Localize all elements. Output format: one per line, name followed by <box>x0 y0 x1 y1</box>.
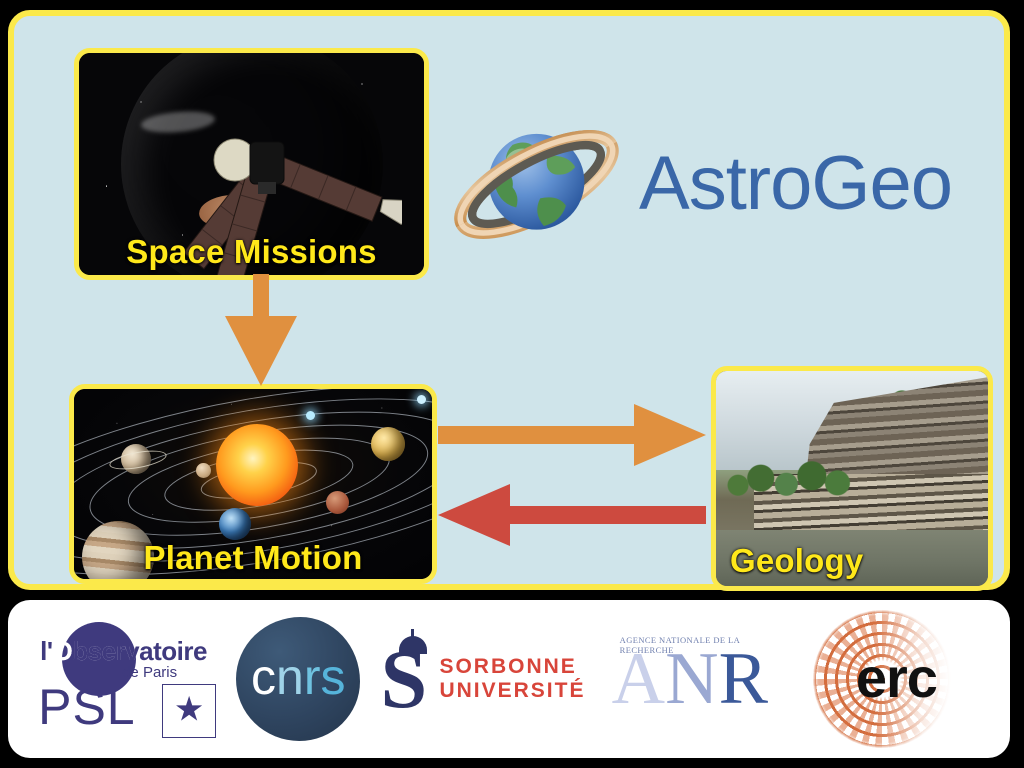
anr-wordmark: ANR <box>612 637 768 722</box>
geology-cliff-image <box>716 371 988 586</box>
erc-wordmark: erc <box>856 650 937 706</box>
star-icon: ★ <box>174 693 204 727</box>
astrogeo-logo: AstroGeo <box>444 94 1014 274</box>
observatoire-prefix: l' <box>40 636 52 666</box>
sorbonne-s-dome-icon: S <box>380 634 427 724</box>
card-space-missions[interactable]: Space Missions <box>74 48 429 280</box>
sorbonne-mark-letter: S <box>380 642 427 718</box>
main-diagram-panel: AstroGeo <box>8 10 1010 590</box>
observatoire-wordmark: l'Observatoire <box>40 636 207 667</box>
logo-anr: AGENCE NATIONALE DE LA RECHERCHE ANR <box>606 629 792 729</box>
cnrs-letter-n: n <box>276 649 304 705</box>
sorbonne-wordmark: SORBONNE UNIVERSITÉ <box>439 655 585 703</box>
sorbonne-line-2: UNIVERSITÉ <box>439 679 585 703</box>
cnrs-wordmark: cnrs <box>251 652 345 702</box>
planet-earth <box>219 508 251 540</box>
logo-erc: erc <box>812 609 982 749</box>
river-water <box>716 530 988 586</box>
sun <box>216 424 298 506</box>
juno-spacecraft-icon <box>102 48 402 280</box>
sorbonne-line-1: SORBONNE <box>439 655 585 679</box>
logo-cnrs: cnrs <box>236 617 360 741</box>
solar-system-image <box>74 389 432 579</box>
card-geology[interactable]: Geology <box>711 366 993 591</box>
slide-canvas: AstroGeo <box>0 0 1024 768</box>
star-blue-1 <box>306 411 315 420</box>
card-planet-motion[interactable]: Planet Motion <box>69 384 437 584</box>
anr-letter-r: R <box>719 638 768 720</box>
brand-name: AstroGeo <box>639 146 952 222</box>
anr-letter-n: N <box>665 638 718 720</box>
cnrs-letter-c: c <box>251 649 276 705</box>
logo-observatoire-psl: l'Observatoire de Paris PSL ★ <box>36 620 216 738</box>
observatoire-rest: bservatoire <box>72 636 207 666</box>
logo-sorbonne-universite: S SORBONNE UNIVERSITÉ <box>380 634 585 724</box>
anr-letter-a: A <box>612 638 665 720</box>
arrow-planet-to-geology <box>438 404 706 466</box>
cnrs-letter-s: s <box>321 649 346 705</box>
planet-venus <box>371 427 405 461</box>
cnrs-letter-r: r <box>304 649 321 705</box>
psl-star-emblem: ★ <box>162 684 216 738</box>
ringed-earth-globe-icon <box>444 97 629 272</box>
arrow-space-to-planet <box>206 274 316 386</box>
observatoire-o: O <box>53 636 73 666</box>
planet-mercury <box>196 463 211 478</box>
jupiter-background-image <box>79 53 424 275</box>
partner-logo-bar: l'Observatoire de Paris PSL ★ cnrs <box>8 600 1010 758</box>
planet-jupiter-small <box>82 521 154 584</box>
planet-mars <box>326 491 349 514</box>
arrow-geology-to-planet <box>438 484 706 546</box>
psl-wordmark: PSL <box>38 682 136 732</box>
star-blue-2 <box>417 395 426 404</box>
